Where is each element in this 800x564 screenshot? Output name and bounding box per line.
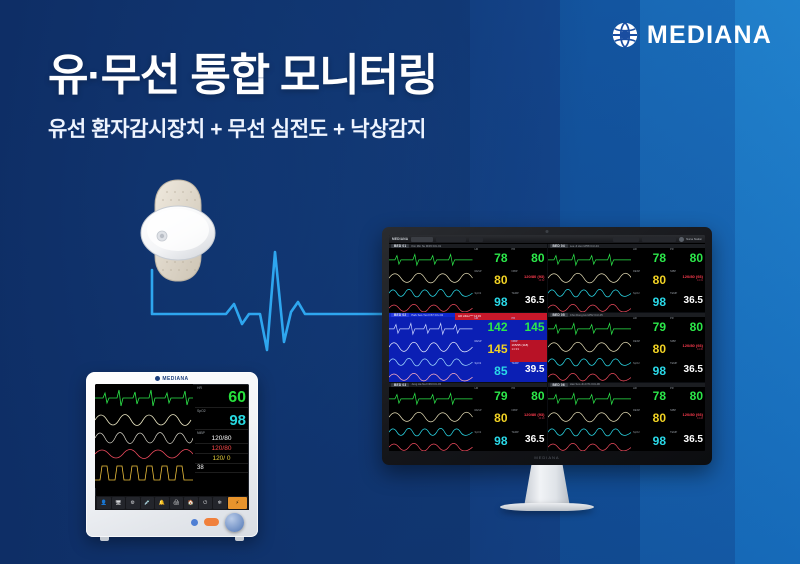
nibp-cell: NIBP 120/80 (93) 14:30 — [668, 340, 705, 362]
waveform-svg — [389, 387, 473, 451]
spo2-cell: SpO2 98 — [631, 362, 668, 382]
spo2-value: 98 — [475, 435, 508, 447]
temp-cell: TEMP 36.5 — [510, 431, 547, 451]
patient-body: HR 142 PR 145 RESP 145 — [389, 317, 547, 381]
spo2-cell: SpO2 98 — [631, 292, 668, 312]
rr-value: 80 — [633, 343, 666, 355]
hr-value: 78 — [475, 252, 508, 264]
temp-value: 36.5 — [512, 435, 545, 445]
pr-value: 80 — [670, 321, 703, 333]
rr-cell: RESP 80 — [473, 270, 510, 292]
pr-value: 80 — [670, 390, 703, 402]
nibp-time: 14:29 — [512, 417, 545, 420]
temp-value: 36.5 — [670, 365, 703, 375]
toolbar-patient-icon[interactable]: 👤 — [97, 497, 111, 509]
nibp-time: 14:30 — [670, 348, 703, 351]
spo2-value: 98 — [633, 296, 666, 308]
bedside-numerics: HR 60 SpO2 98 NIBP 120/80 120/80 120/ 0 — [195, 385, 248, 488]
patient-waveforms — [389, 387, 473, 451]
globe-icon — [612, 22, 638, 48]
patient-waveforms — [548, 387, 632, 451]
station-tab-view[interactable] — [436, 237, 466, 242]
toolbar-bell-icon[interactable]: 🔔 — [155, 497, 169, 509]
waveform-svg — [548, 317, 632, 381]
bedside-hr-value: 60 — [197, 390, 246, 406]
patient-numerics: HR 78 PR 80 RESP 80 — [631, 387, 705, 451]
temp-value: 36.5 — [512, 296, 545, 306]
hr-cell: HR 78 — [473, 248, 510, 270]
monitor-stand-base — [500, 503, 594, 511]
bedside-brand: MEDIANA — [86, 376, 258, 382]
waveform-svg — [548, 387, 632, 451]
pr-value: 80 — [512, 252, 545, 264]
temp-cell: TEMP 39.5 — [510, 362, 547, 382]
toolbar-home-icon[interactable]: 🏠 — [184, 497, 198, 509]
bedside-nibp-value: 120/80 — [197, 435, 246, 442]
patient-waveforms — [548, 248, 632, 312]
hr-value: 79 — [475, 390, 508, 402]
pr-cell: PR 80 — [668, 387, 705, 409]
hr-cell: HR 142 — [473, 317, 510, 339]
nibp-cell: NIBP 120/80 (93) 14:31 — [668, 270, 705, 292]
patient-panel-bed06[interactable]: BED 06 Han Soo Jin F/71 ICU-06 — [548, 383, 706, 451]
headline-block: 유·무선 통합 모니터링 유선 환자감시장치 + 무선 심전도 + 낙상감지 — [48, 52, 568, 143]
spo2-value: 98 — [633, 365, 666, 377]
bedside-monitor[interactable]: MEDIANA HR 60 SpO2 98 — [86, 372, 258, 537]
rr-value: 80 — [475, 274, 508, 286]
hr-cell: HR 79 — [473, 387, 510, 409]
nibp-cell: NIBP 120/80 (93) 14:29 — [510, 409, 547, 431]
bedside-nibp-sys-row: 120/80 — [195, 444, 248, 454]
rr-value: 145 — [475, 343, 508, 355]
pr-cell: PR 80 — [510, 248, 547, 270]
bedside-brand-name: MEDIANA — [162, 376, 188, 382]
hr-value: 78 — [633, 390, 666, 402]
bedside-nibp-row: NIBP 120/80 — [195, 430, 248, 444]
toolbar-defib-button[interactable]: ⚡ — [228, 497, 248, 509]
patient-numerics: HR 79 PR 80 RESP 80 — [473, 387, 547, 451]
nibp-time: 14:28 — [670, 417, 703, 420]
station-screen: MEDIANA Nurse Station — [389, 235, 705, 451]
patient-body: HR 79 PR 80 RESP 80 — [389, 387, 547, 451]
spo2-value: 98 — [633, 435, 666, 447]
pr-cell: PR 80 — [510, 387, 547, 409]
rotary-dial[interactable] — [225, 513, 244, 532]
bedside-toolbar[interactable]: 👤 🖥 ⚙ 💉 🔔 🖨 🏠 ⏻ ❄ ⚡ — [95, 496, 249, 510]
central-monitoring-station[interactable]: MEDIANA Nurse Station — [382, 227, 712, 532]
temp-cell: TEMP 36.5 — [668, 292, 705, 312]
toolbar-power-icon[interactable]: ⏻ — [199, 497, 213, 509]
nibp-time: 14:31 — [670, 279, 703, 282]
bedside-spo2-value: 98 — [197, 413, 246, 428]
patient-panel-bed01[interactable]: BED 01 Kim Min Su M/45 ICU-01 — [389, 244, 547, 312]
hr-cell: HR 79 — [631, 317, 668, 339]
temp-cell: TEMP 36.5 — [668, 431, 705, 451]
patient-body: HR 78 PR 80 RESP 80 — [548, 248, 706, 312]
rr-cell: RESP 145 — [473, 340, 510, 362]
patient-panel-bed03[interactable]: BED 03 Jung Ha Na F/39 ICU-03 — [389, 383, 547, 451]
patient-body: HR 79 PR 80 RESP 80 — [548, 317, 706, 381]
bedside-resp-row: 38 — [195, 464, 248, 473]
hr-value: 79 — [633, 321, 666, 333]
spo2-cell: SpO2 98 — [473, 431, 510, 451]
bedside-screen: HR 60 SpO2 98 NIBP 120/80 120/80 120/ 0 — [95, 384, 249, 502]
rr-value: 80 — [475, 412, 508, 424]
patient-waveforms — [389, 317, 473, 381]
spo2-cell: SpO2 85 — [473, 362, 510, 382]
avatar — [679, 237, 684, 242]
nibp-cell: NIBP 120/80 (93) 14:28 — [668, 409, 705, 431]
nibp-cell: NIBP 120/80 (93) 14:32 — [510, 270, 547, 292]
patient-numerics: HR 142 PR 145 RESP 145 — [473, 317, 547, 381]
nibp-cell: NIBP 165/95 (118) 14:33 — [510, 340, 547, 362]
bedside-nibp-sys-value: 120/80 — [197, 445, 246, 452]
hr-value: 142 — [475, 321, 508, 333]
waveform-svg — [389, 248, 473, 312]
bedside-feet — [100, 536, 244, 541]
spo2-cell: SpO2 98 — [473, 292, 510, 312]
page-title: 유·무선 통합 모니터링 — [48, 52, 568, 100]
rr-cell: RESP 80 — [631, 270, 668, 292]
waveform-svg — [389, 317, 473, 381]
station-tab-trend[interactable] — [469, 237, 483, 242]
pr-value: 80 — [670, 252, 703, 264]
pr-cell: PR 80 — [668, 248, 705, 270]
rr-cell: RESP 80 — [631, 409, 668, 431]
station-bezel: MEDIANA Nurse Station — [382, 227, 712, 465]
page-subtitle: 유선 환자감시장치 + 무선 심전도 + 낙상감지 — [48, 113, 568, 143]
rr-value: 80 — [633, 274, 666, 286]
pr-value: 145 — [512, 321, 545, 333]
nibp-time: 14:33 — [512, 347, 545, 351]
station-brand: MEDIANA — [392, 237, 408, 241]
toolbar-freeze-icon[interactable]: ❄ — [213, 497, 227, 509]
patient-grid: BED 01 Kim Min Su M/45 ICU-01 — [389, 244, 705, 451]
temp-value: 36.5 — [670, 435, 703, 445]
bedside-spo2-row: SpO2 98 — [195, 408, 248, 430]
alarm-silence-button[interactable] — [204, 518, 219, 526]
toolbar-screen-icon[interactable]: 🖥 — [112, 497, 126, 509]
patient-panel-bed02[interactable]: BED 02 Park Seo Yun F/67 ICU-02 HR HIGH … — [389, 313, 547, 381]
hr-value: 78 — [633, 252, 666, 264]
patient-body: HR 78 PR 80 RESP 80 — [389, 248, 547, 312]
pr-cell: PR 80 — [668, 317, 705, 339]
patient-panel-bed05[interactable]: BED 05 Choi Dong Ho M/52 ICU-05 — [548, 313, 706, 381]
bedside-hr-row: HR 60 — [195, 385, 248, 408]
bedside-resp-value: 38 — [197, 465, 246, 471]
patient-numerics: HR 79 PR 80 RESP 80 — [631, 317, 705, 381]
station-filter-select[interactable] — [642, 237, 676, 242]
station-search-input[interactable] — [613, 237, 639, 242]
pr-value: 80 — [512, 390, 545, 402]
spo2-value: 98 — [475, 296, 508, 308]
power-button[interactable] — [191, 519, 198, 526]
rr-cell: RESP 80 — [473, 409, 510, 431]
bedside-nibp-dia-value: 120/ 0 — [197, 455, 246, 462]
station-user-name: Nurse Station — [686, 238, 702, 241]
station-user-menu[interactable]: Nurse Station — [679, 237, 702, 242]
station-chin-label: MEDIANA — [382, 452, 712, 463]
temp-value: 36.5 — [670, 296, 703, 306]
hr-cell: HR 78 — [631, 248, 668, 270]
wireless-ecg-patch — [137, 178, 219, 283]
spo2-cell: SpO2 98 — [631, 431, 668, 451]
bedside-nibp-dia-row: 120/ 0 — [195, 454, 248, 464]
pr-cell: PR 145 — [510, 317, 547, 339]
rr-cell: RESP 80 — [631, 340, 668, 362]
patient-body: HR 78 PR 80 RESP 80 — [548, 387, 706, 451]
patient-waveforms — [548, 317, 632, 381]
toolbar-printer-icon[interactable]: 🖨 — [170, 497, 184, 509]
temp-cell: TEMP 36.5 — [510, 292, 547, 312]
bedside-waveforms — [95, 384, 193, 488]
brand-logo: MEDIANA — [612, 22, 772, 48]
station-tab-all-beds[interactable] — [411, 237, 433, 242]
station-toolbar[interactable]: MEDIANA Nurse Station — [389, 235, 705, 244]
nibp-time: 14:32 — [512, 279, 545, 282]
bedside-control-panel[interactable] — [90, 511, 254, 533]
poster-canvas: MEDIANA 유·무선 통합 모니터링 유선 환자감시장치 + 무선 심전도 … — [0, 0, 800, 564]
toolbar-gear-icon[interactable]: ⚙ — [126, 497, 140, 509]
patient-waveforms — [389, 248, 473, 312]
patient-panel-bed04[interactable]: BED 04 Lee Ji Hun M/58 ICU-04 — [548, 244, 706, 312]
waveform-svg — [548, 248, 632, 312]
hr-cell: HR 78 — [631, 387, 668, 409]
rr-value: 80 — [633, 412, 666, 424]
patient-numerics: HR 78 PR 80 RESP 80 — [473, 248, 547, 312]
monitor-stand-neck — [524, 465, 570, 507]
toolbar-probe-icon[interactable]: 💉 — [141, 497, 155, 509]
webcam-icon — [546, 230, 549, 233]
brand-name: MEDIANA — [647, 23, 772, 48]
spo2-value: 85 — [475, 365, 508, 377]
temp-value: 39.5 — [512, 365, 545, 375]
temp-cell: TEMP 36.5 — [668, 362, 705, 382]
patient-numerics: HR 78 PR 80 RESP 80 — [631, 248, 705, 312]
bedside-brand-mark — [155, 376, 160, 381]
